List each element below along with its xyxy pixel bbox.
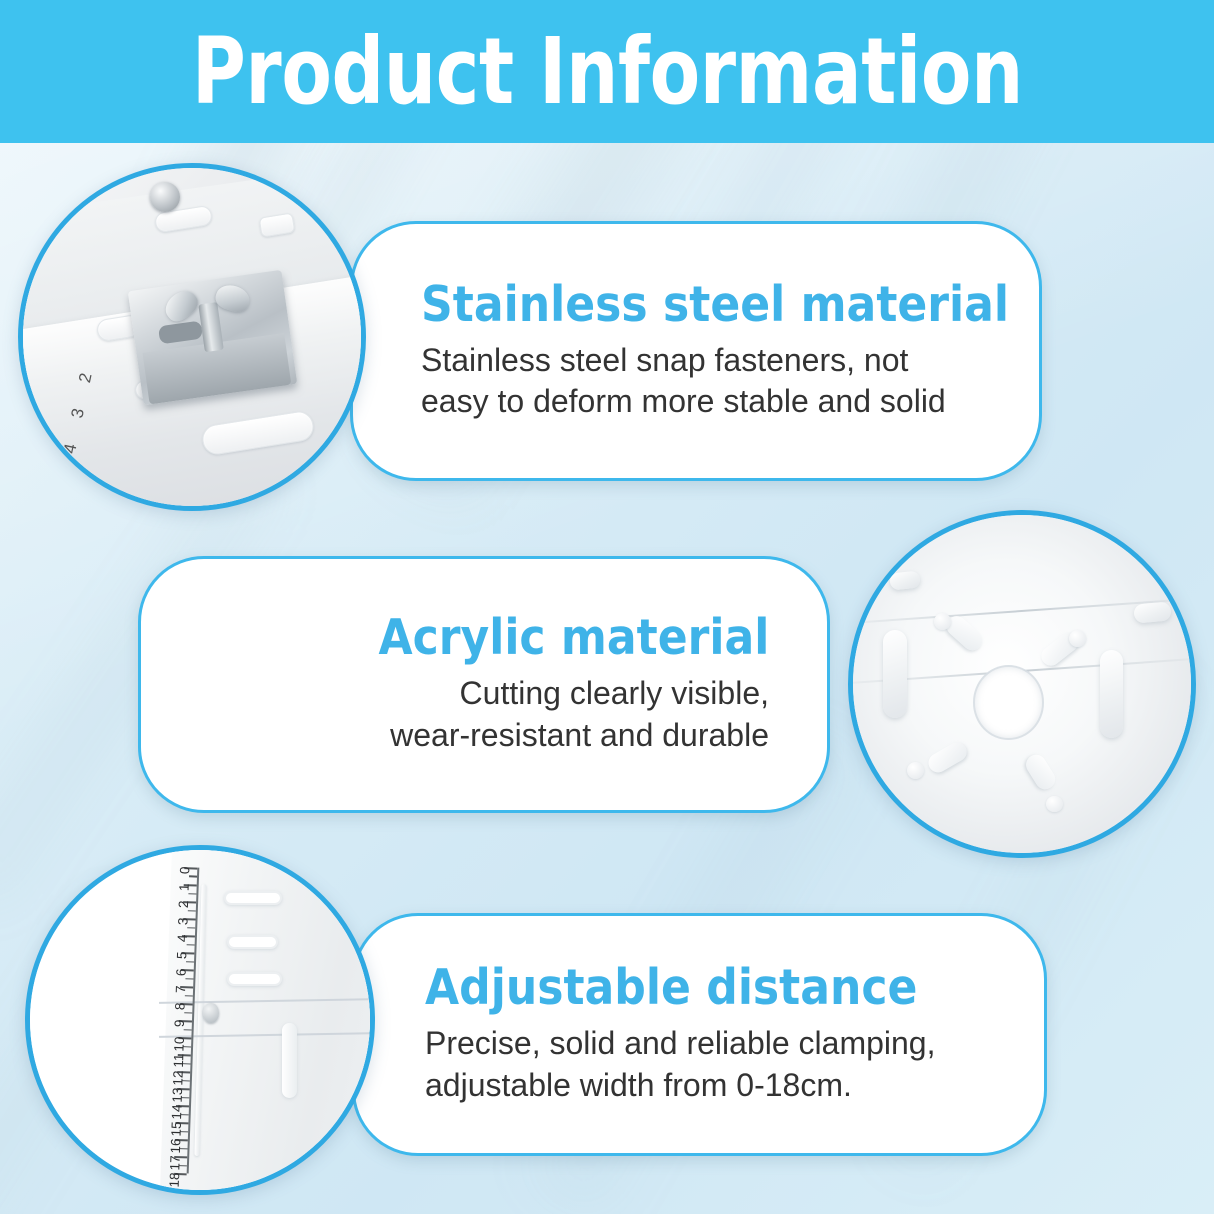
ruler-tick-minor bbox=[186, 961, 193, 963]
acrylic-knob bbox=[1069, 630, 1086, 647]
infographic-page: Product Information Stainless steel mate… bbox=[0, 0, 1214, 1214]
ruler-label: 11 bbox=[170, 1053, 185, 1068]
feature-body: Stainless steel snap fasteners, not easy… bbox=[421, 340, 946, 423]
ruler-tick-minor bbox=[188, 893, 195, 895]
ruler-label: 7 bbox=[173, 985, 188, 993]
acrylic-post bbox=[1100, 650, 1124, 738]
ruler-label: 6 bbox=[173, 968, 188, 976]
ruler-tick-minor bbox=[188, 910, 195, 912]
ruler-label: 1 bbox=[176, 883, 191, 891]
acrylic-post bbox=[883, 630, 907, 718]
ruler-tick-minor bbox=[187, 927, 194, 929]
screw-head bbox=[150, 182, 180, 212]
stainless-steel-clamp-photo: 4 3 2 bbox=[18, 163, 366, 511]
acrylic-knob bbox=[934, 613, 951, 630]
ruler-tick-minor bbox=[185, 995, 192, 997]
ruler-label: 12 bbox=[169, 1070, 185, 1086]
ruler-label: 18 bbox=[166, 1172, 182, 1188]
ruler-label: 0 bbox=[177, 866, 192, 874]
acrylic-post bbox=[282, 1023, 297, 1098]
steel-clamp bbox=[127, 269, 297, 404]
acrylic-knob bbox=[907, 762, 924, 779]
center-hole bbox=[975, 667, 1043, 738]
acrylic-post bbox=[1133, 601, 1172, 623]
ruler-label: 16 bbox=[167, 1138, 183, 1154]
plate-slot bbox=[224, 891, 282, 905]
ruler-label: 15 bbox=[168, 1121, 184, 1137]
acrylic-knob bbox=[1046, 796, 1063, 813]
ruler-label: 3 bbox=[175, 917, 190, 925]
ruler-tick-minor bbox=[186, 944, 193, 946]
page-header: Product Information bbox=[0, 0, 1214, 143]
plate-slot bbox=[227, 972, 281, 986]
ruler-label: 5 bbox=[174, 951, 189, 959]
ruler-label: 14 bbox=[168, 1104, 184, 1120]
page-title: Product Information bbox=[191, 26, 1022, 118]
plate-slot bbox=[227, 935, 278, 949]
feature-card-stainless-steel: Stainless steel material Stainless steel… bbox=[350, 221, 1042, 481]
feature-title: Acrylic material bbox=[378, 612, 769, 664]
feature-title: Stainless steel material bbox=[421, 279, 1009, 331]
ruler-label: 9 bbox=[171, 1019, 186, 1027]
ruler-label: 4 bbox=[174, 934, 189, 942]
ruler-tick-minor bbox=[184, 1012, 191, 1014]
acrylic-plate-photo bbox=[848, 510, 1196, 858]
feature-title: Adjustable distance bbox=[425, 962, 917, 1014]
screw-knob bbox=[203, 1003, 218, 1023]
ruler-label: 2 bbox=[176, 900, 191, 908]
plate-notch bbox=[356, 847, 375, 898]
ruler-scale-photo: 0123456789101112131415161718 bbox=[25, 845, 375, 1195]
feature-body: Cutting clearly visible, wear-resistant … bbox=[390, 673, 769, 756]
ruler-tick-minor bbox=[184, 1029, 191, 1031]
ruler-label: 13 bbox=[169, 1087, 185, 1103]
ruler-label: 10 bbox=[171, 1036, 187, 1052]
ruler-label: 17 bbox=[166, 1155, 182, 1171]
feature-card-adjustable-distance: Adjustable distance Precise, solid and r… bbox=[352, 913, 1047, 1156]
ruler-label: 8 bbox=[172, 1002, 187, 1010]
feature-body: Precise, solid and reliable clamping, ad… bbox=[425, 1023, 935, 1106]
ruler-tick-minor bbox=[189, 876, 196, 878]
ruler-tick-minor bbox=[185, 978, 192, 980]
feature-card-acrylic: Acrylic material Cutting clearly visible… bbox=[138, 556, 830, 813]
